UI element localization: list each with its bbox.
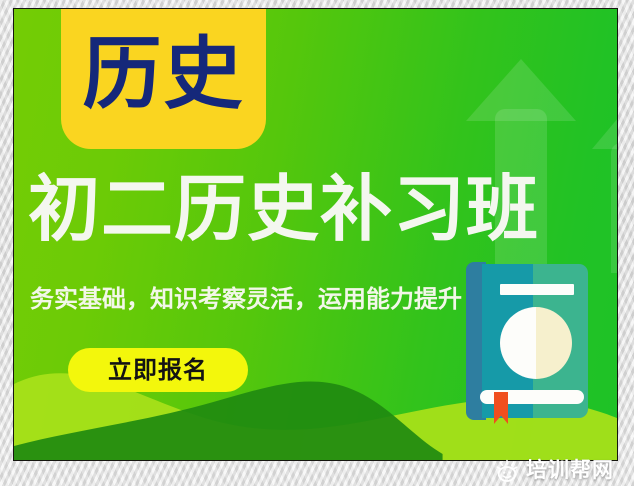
up-arrow-head [592, 105, 618, 149]
enroll-now-button[interactable]: 立即报名 [68, 348, 248, 392]
enroll-now-button-label: 立即报名 [108, 358, 208, 382]
up-arrow-shaft [611, 143, 618, 273]
sun-smiley-icon [495, 459, 519, 483]
site-watermark-label: 培训帮网 [526, 460, 614, 481]
book-bookmark-ribbon [494, 392, 508, 424]
book-top-band [500, 284, 574, 295]
course-promo-banner: 历史 初二历史补习班 务实基础，知识考察灵活，运用能力提升 立即报名 [13, 8, 618, 461]
book-circle-emblem [500, 307, 572, 379]
page-background: 历史 初二历史补习班 务实基础，知识考察灵活，运用能力提升 立即报名 [0, 0, 634, 486]
subject-badge: 历史 [61, 8, 266, 149]
book-illustration [466, 262, 590, 420]
subtitle: 务实基础，知识考察灵活，运用能力提升 [30, 286, 462, 312]
site-watermark: 培训帮网 [489, 455, 620, 486]
headline: 初二历史补习班 [28, 173, 604, 245]
subject-badge-label: 历史 [83, 35, 245, 122]
